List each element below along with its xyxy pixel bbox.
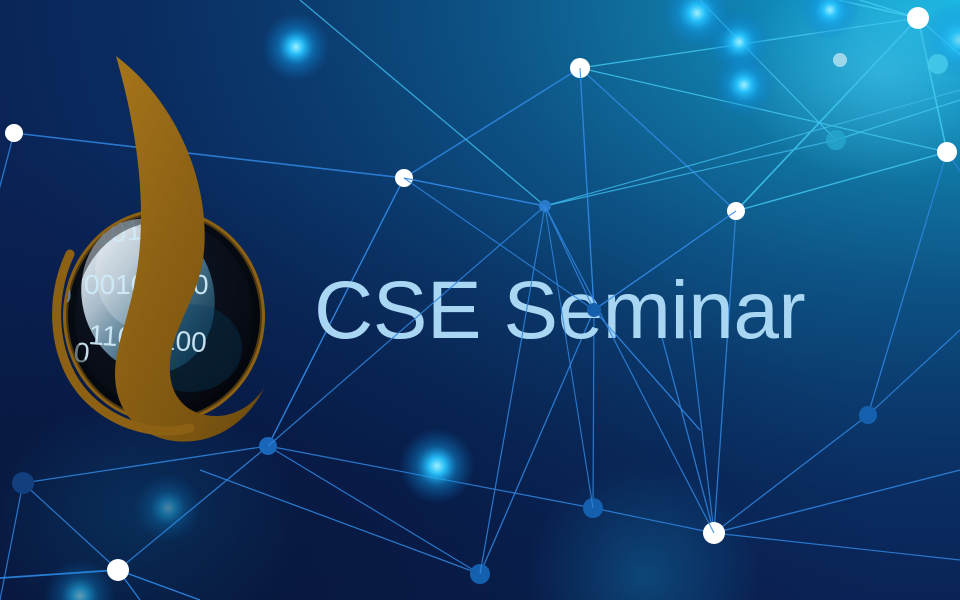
cse-seminar-logo: 1 10 10 010 010. 01010 1010110 00101010 … <box>40 48 320 448</box>
svg-text:10: 10 <box>40 224 79 264</box>
svg-text:1: 1 <box>50 187 78 222</box>
cse-seminar-banner: 1 10 10 010 010. 01010 1010110 00101010 … <box>0 0 960 600</box>
